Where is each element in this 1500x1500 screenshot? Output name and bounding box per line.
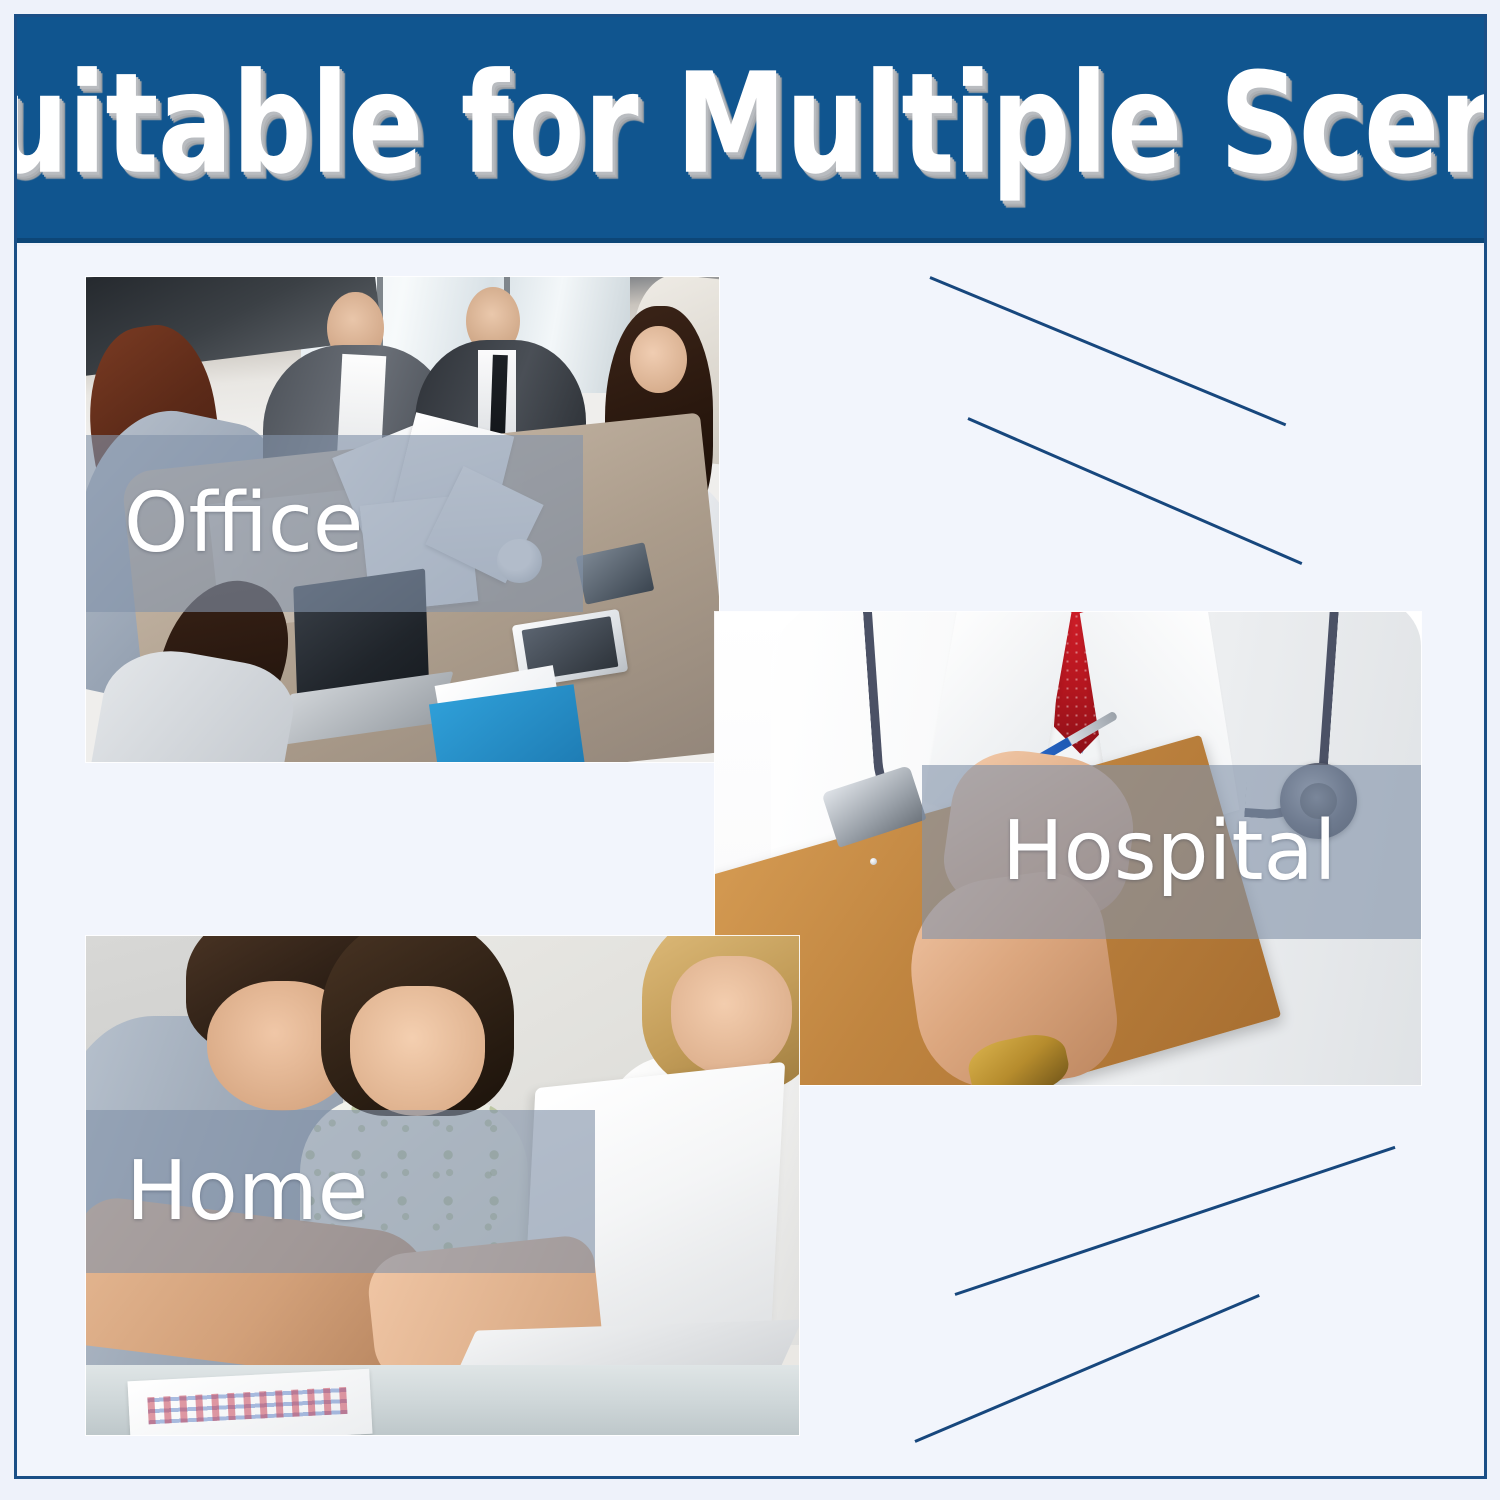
scene-image-hospital: Hospital (715, 612, 1421, 1085)
scene-label-office: Office (124, 483, 363, 565)
decor-line-top-1 (929, 276, 1286, 426)
home-person-face (671, 956, 792, 1076)
scene-label-hospital: Hospital (1002, 811, 1337, 893)
scene-label-band-office: Office (86, 435, 583, 612)
banner-title-text: Suitable for Multiple Scene (14, 54, 1487, 193)
decor-line-bottom-2 (914, 1294, 1259, 1443)
home-book (127, 1369, 372, 1435)
infographic-page: Suitable for Multiple Scene (0, 0, 1500, 1500)
scene-label-home: Home (126, 1151, 368, 1233)
scene-label-band-home: Home (86, 1110, 595, 1273)
banner-title: Suitable for Multiple Scene (14, 54, 1487, 193)
content-area: Office (17, 246, 1484, 1476)
scene-label-band-hospital: Hospital (922, 765, 1421, 939)
scene-image-home: Home (86, 936, 799, 1435)
decor-line-top-2 (967, 417, 1302, 565)
decor-line-bottom-1 (955, 1146, 1396, 1296)
header-banner: Suitable for Multiple Scene (14, 15, 1487, 243)
scene-image-office: Office (86, 277, 719, 762)
home-child-face (350, 986, 485, 1116)
